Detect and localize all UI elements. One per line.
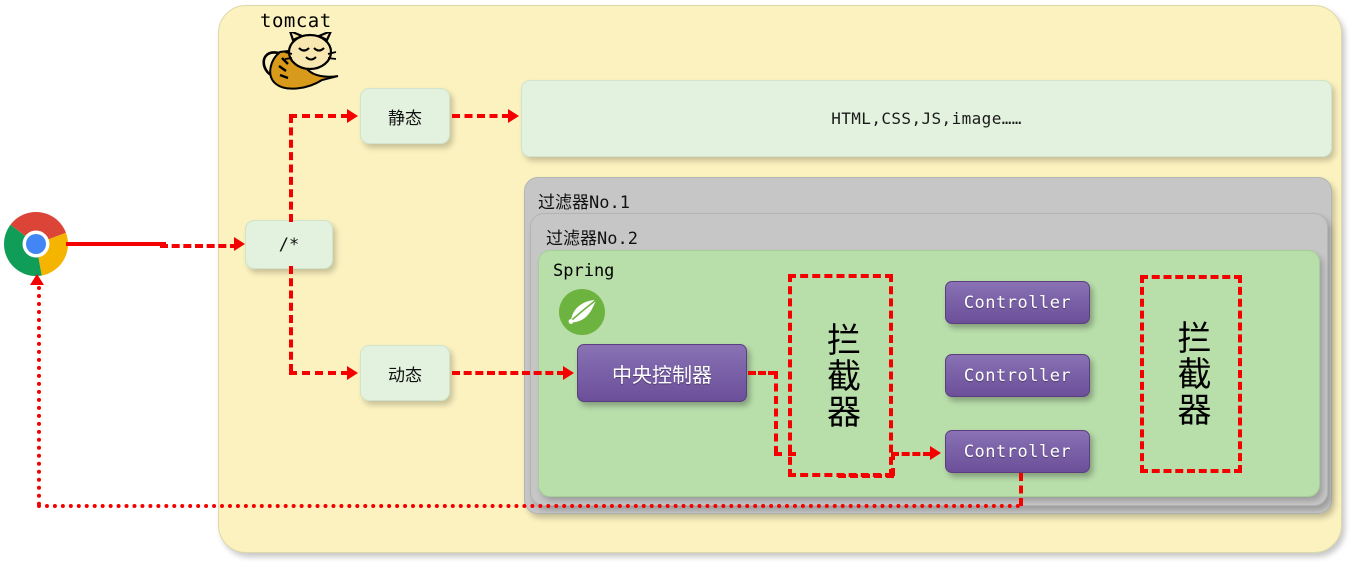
arrowhead-to-dispatcher [563, 366, 574, 380]
flow-return-up [37, 286, 41, 506]
dispatcher-servlet-box[interactable]: 中央控制器 [577, 344, 747, 402]
interceptor-box-1: 拦截器 [788, 274, 893, 477]
flow-interceptor1-bottom [838, 474, 894, 478]
controller-box-2[interactable]: Controller [945, 354, 1090, 397]
arrowhead-to-dynamic-box [347, 366, 358, 380]
url-pattern-box[interactable]: /* [245, 220, 333, 269]
filter-no1-label: 过滤器No.1 [538, 188, 630, 213]
flow-pattern-down-spine [289, 266, 293, 372]
interceptor-box-2: 拦截器 [1140, 275, 1242, 473]
flow-dispatcher-down [774, 371, 778, 454]
flow-dispatcher-out [748, 371, 776, 375]
flow-to-controller3 [891, 452, 931, 456]
flow-client-to-pattern-dashed [160, 244, 238, 248]
arrowhead-to-pattern [234, 237, 245, 251]
arrowhead-to-static-box [347, 109, 358, 123]
static-resources-box: HTML,CSS,JS,image…… [521, 80, 1332, 157]
static-route-box[interactable]: 静态 [360, 88, 450, 144]
arrowhead-to-controller3 [930, 446, 941, 460]
arrowhead-to-resources [508, 109, 519, 123]
flow-into-interceptor1 [774, 452, 796, 456]
flow-to-static-box [289, 114, 349, 118]
tomcat-logo-icon [252, 32, 342, 94]
chrome-logo-icon [2, 210, 70, 278]
flow-return-down [1019, 473, 1023, 506]
controller-box-1[interactable]: Controller [945, 281, 1090, 324]
spring-label: Spring [553, 261, 614, 281]
controller-box-3[interactable]: Controller [945, 430, 1090, 473]
flow-pattern-up-spine [289, 115, 293, 222]
arrowhead-to-client [30, 274, 44, 285]
flow-static-to-resources [452, 114, 510, 118]
flow-client-to-pattern-solid [66, 242, 166, 246]
filter-no2-label: 过滤器No.2 [546, 224, 638, 249]
flow-dynamic-to-dispatcher [452, 371, 565, 375]
tomcat-label: tomcat [260, 10, 332, 32]
dynamic-route-box[interactable]: 动态 [360, 345, 450, 401]
diagram-canvas: tomcat [0, 0, 1364, 562]
flow-return-left [37, 504, 1021, 508]
flow-to-dynamic-box [289, 371, 349, 375]
spring-leaf-logo-icon [558, 288, 606, 336]
